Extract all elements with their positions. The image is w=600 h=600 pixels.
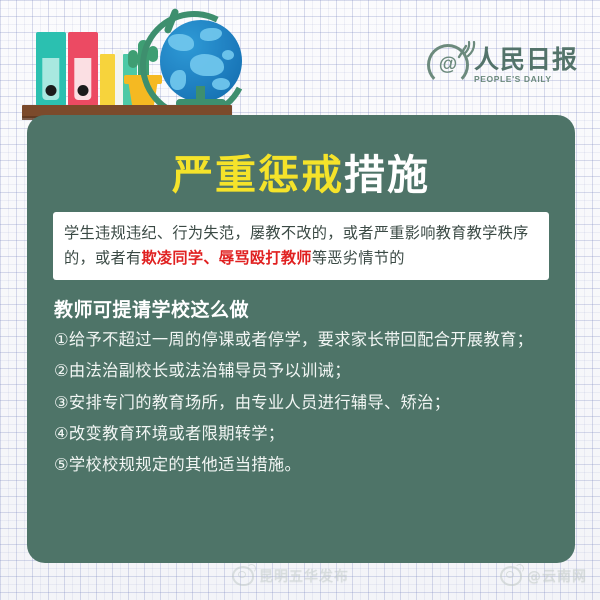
list-item: ③ 安排专门的教育场所，由专业人员进行辅导、矫治； [54,389,554,417]
publisher-name-cn: 人民日报 [474,47,578,72]
watermark-left: 昆明五华发布 [232,566,349,586]
publisher-logo: @ 人民日报 PEOPLE'S DAILY [427,42,578,88]
page-title-highlight: 严重惩戒 [172,151,344,199]
weibo-icon [500,566,522,586]
list-item-text: 学校校规规定的其他适当措施。 [69,451,554,479]
list-item: ④ 改变教育环境或者限期转学； [54,420,554,448]
measures-list: ① 给予不超过一周的停课或者停学，要求家长带回配合开展教育； ② 由法治副校长或… [54,326,554,483]
binder-teal-icon [36,32,66,106]
poster-canvas: @ 人民日报 PEOPLE'S DAILY 严重惩戒措施 学生违规违纪、行为失范… [0,0,600,600]
list-item-marker: ① [54,326,69,354]
section-subheading: 教师可提请学校这么做 [54,295,249,322]
list-item-text: 改变教育环境或者限期转学； [69,420,554,448]
notice-box: 学生违规违纪、行为失范，屡教不改的，或者严重影响教育教学秩序的，或者有欺凌同学、… [53,212,549,280]
notice-segment-emphasis: 欺凌同学、辱骂殴打教师 [141,249,311,267]
list-item-text: 由法治副校长或法治辅导员予以训诫； [69,357,554,385]
page-title-plain: 措施 [344,151,430,199]
watermark-right-label: @云南网 [527,566,587,586]
page-title: 严重惩戒措施 [27,141,575,201]
watermark-left-label: 昆明五华发布 [259,566,349,586]
desk-books-globe-illustration [18,8,238,120]
watermark-right: @云南网 [500,566,587,586]
list-item: ② 由法治副校长或法治辅导员予以训诫； [54,357,554,385]
list-item-marker: ④ [54,420,69,448]
list-item-text: 安排专门的教育场所，由专业人员进行辅导、矫治； [69,389,554,417]
signal-waves-icon [455,41,477,61]
cactus-arm-left-icon [128,50,138,68]
list-item-marker: ② [54,357,69,385]
list-item-marker: ⑤ [54,451,69,479]
notice-segment-3: 等恶劣情节的 [312,249,405,267]
book-white-icon [115,50,123,106]
list-item: ⑤ 学校校规规定的其他适当措施。 [54,451,554,479]
list-item-marker: ③ [54,389,69,417]
list-item-text: 给予不超过一周的停课或者停学，要求家长带回配合开展教育； [69,326,554,354]
book-yellow-icon [100,54,115,106]
chalkboard-panel: 严重惩戒措施 学生违规违纪、行为失范，屡教不改的，或者严重影响教育教学秩序的，或… [27,115,575,563]
list-item: ① 给予不超过一周的停课或者停学，要求家长带回配合开展教育； [54,326,554,354]
binder-pink-icon [68,32,98,106]
publisher-name-en: PEOPLE'S DAILY [474,75,578,84]
weibo-icon [232,566,254,586]
